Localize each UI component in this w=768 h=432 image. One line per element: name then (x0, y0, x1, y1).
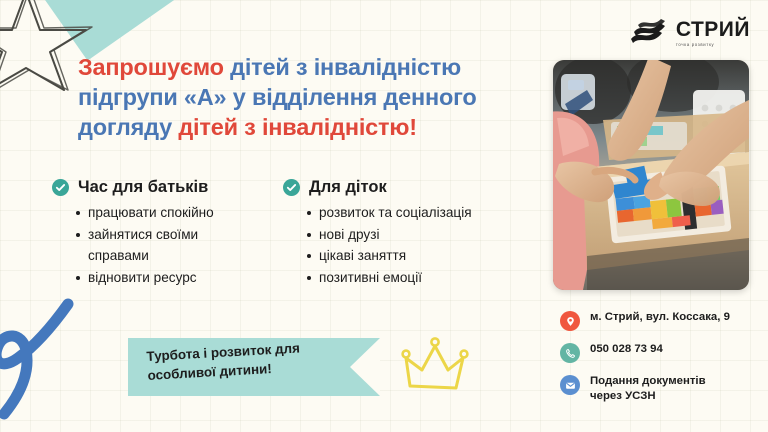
contact-email-text: Подання документів через УСЗН (590, 374, 706, 405)
benefits-column-children-title: Для діток (309, 178, 387, 197)
wave-lines-icon (629, 18, 669, 48)
headline-line3-blue: догляду (78, 114, 172, 140)
poster-canvas: СТРИЙ точка розвитку Запрошуємо дітей з … (0, 0, 768, 432)
headline-line3-red: дітей з інвалідністю! (178, 114, 417, 140)
benefits-column-parents: Час для батьків працювати спокійно зайня… (52, 178, 257, 290)
photo-illustration (553, 60, 749, 290)
headline-line1-blue: дітей з інвалідністю (230, 54, 461, 80)
contact-email-line2: через УСЗН (590, 390, 656, 402)
contact-phone-text: 050 028 73 94 (590, 342, 663, 357)
list-item: розвиток та соціалізація (307, 203, 513, 224)
list-item: зайнятися своїми (76, 225, 257, 246)
check-circle-icon (52, 179, 69, 196)
phone-icon (560, 343, 580, 363)
contact-address-row: м. Стрий, вул. Коссака, 9 (560, 310, 730, 331)
benefits-column-parents-header: Час для батьків (52, 178, 257, 197)
contact-email-row[interactable]: Подання документів через УСЗН (560, 374, 730, 405)
headline-line2: підгрупи «А» у відділення денного (78, 84, 477, 110)
headline-line1-red: Запрошуємо (78, 54, 224, 80)
page-title: Запрошуємо дітей з інвалідністю підгрупи… (78, 52, 538, 142)
benefits-section: Час для батьків працювати спокійно зайня… (52, 178, 513, 290)
list-item-continuation: справами (76, 246, 257, 267)
list-item: відновити ресурс (76, 268, 257, 289)
contact-section: м. Стрий, вул. Коссака, 9 050 028 73 94 … (560, 310, 730, 405)
list-item: нові друзі (307, 225, 513, 246)
logo-subtitle: точка розвитку (676, 43, 750, 47)
benefits-column-parents-title: Час для батьків (78, 178, 208, 197)
benefits-column-children: Для діток розвиток та соціалізація нові … (283, 178, 513, 290)
yellow-crown-doodle-icon (398, 336, 472, 398)
benefits-list-parents: працювати спокійно зайнятися своїми спра… (52, 203, 257, 289)
check-circle-icon (283, 179, 300, 196)
contact-phone-row[interactable]: 050 028 73 94 (560, 342, 730, 363)
photo-children-puzzle (553, 60, 749, 290)
slogan-text: Турбота і розвиток для особливої дитини! (146, 335, 363, 385)
list-item: працювати спокійно (76, 203, 257, 224)
blue-brush-scribble-icon (0, 296, 116, 432)
list-item: цікаві заняття (307, 246, 513, 267)
list-item: позитивні емоції (307, 268, 513, 289)
contact-address-text: м. Стрий, вул. Коссака, 9 (590, 310, 730, 325)
benefits-list-children: розвиток та соціалізація нові друзі ціка… (283, 203, 513, 289)
contact-email-line1: Подання документів (590, 375, 706, 387)
envelope-icon (560, 375, 580, 395)
slogan-ribbon: Турбота і розвиток для особливої дитини! (128, 338, 380, 396)
location-pin-icon (560, 311, 580, 331)
benefits-column-children-header: Для діток (283, 178, 513, 197)
brand-logo: СТРИЙ точка розвитку (629, 18, 750, 48)
logo-name: СТРИЙ (676, 19, 750, 40)
